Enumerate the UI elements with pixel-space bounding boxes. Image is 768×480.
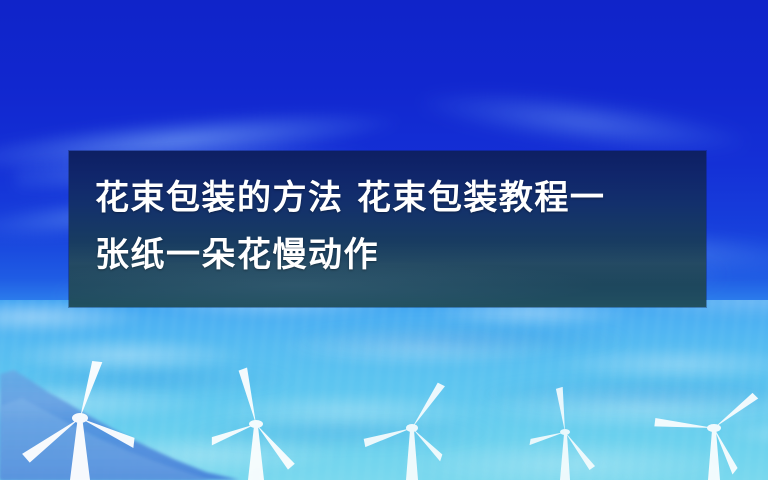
title-line-2: 张纸一朵花慢动作: [95, 227, 706, 284]
title-text-block: 花束包装的方法 花束包装教程一 张纸一朵花慢动作: [69, 151, 706, 284]
title-line-1: 花束包装的方法 花束包装教程一: [95, 170, 706, 227]
title-overlay-panel: 花束包装的方法 花束包装教程一 张纸一朵花慢动作: [69, 151, 706, 307]
screenshot-canvas: 花束包装的方法 花束包装教程一 张纸一朵花慢动作: [0, 0, 768, 480]
mountain-ridge: [0, 340, 300, 480]
